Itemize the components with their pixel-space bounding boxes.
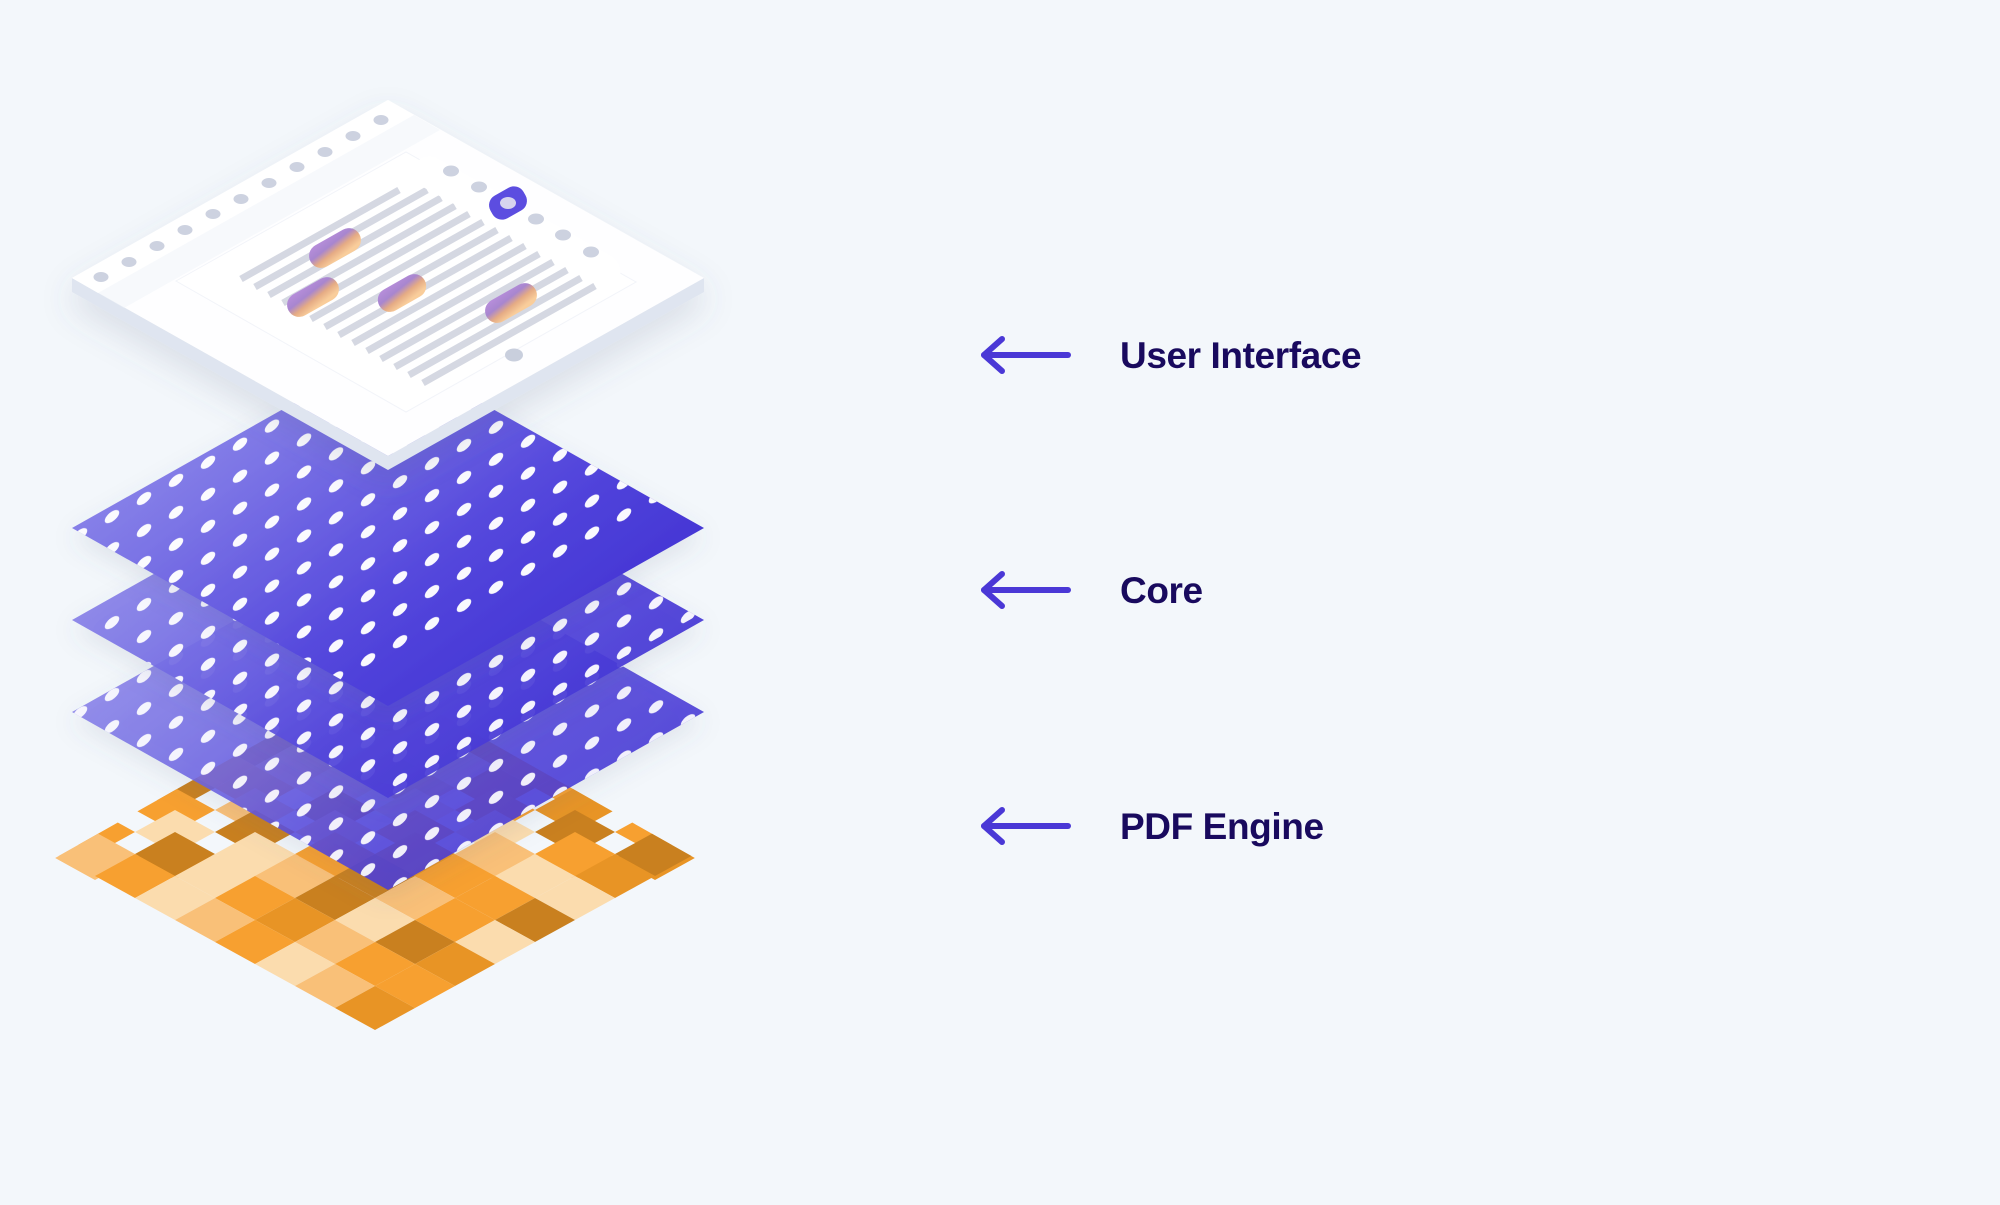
annotation-label-core: Core xyxy=(1120,572,1203,609)
annotation-user-interface: User Interface xyxy=(940,325,1361,385)
annotation-label-user-interface: User Interface xyxy=(1120,337,1361,374)
diagram-canvas: User Interface Core PDF Engine xyxy=(0,0,2000,1200)
ui-window-plane xyxy=(72,100,704,470)
arrow-left-icon xyxy=(964,335,1074,375)
annotation-list: User Interface Core PDF Engine xyxy=(940,0,2000,1200)
arrow-left-icon xyxy=(964,570,1074,610)
layer-stack-illustration xyxy=(0,0,1000,1200)
page-corner-dot xyxy=(505,349,523,362)
arrow-left-icon xyxy=(964,806,1074,846)
annotation-core: Core xyxy=(940,560,1203,620)
annotation-pdf-engine: PDF Engine xyxy=(940,796,1324,856)
annotation-label-pdf-engine: PDF Engine xyxy=(1120,808,1324,845)
